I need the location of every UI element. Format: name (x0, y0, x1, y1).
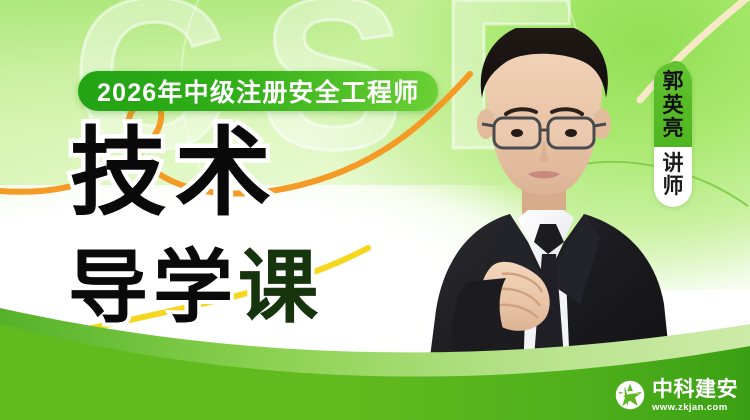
instructor-badge: 郭 英 亮 讲 师 (654, 63, 692, 207)
instructor-role: 讲 师 (654, 147, 692, 207)
title-sub: 导学课 (68, 248, 323, 328)
brand-name: 中科建安 (652, 379, 738, 400)
title-sub-plain: 导学 (68, 243, 238, 332)
brand-text: 中科建安 www.zkjan.com (652, 379, 738, 413)
brand-url: www.zkjan.com (652, 403, 738, 413)
course-subject-badge: 2026年中级注册安全工程师 (78, 71, 438, 111)
course-poster: CSE (0, 0, 750, 420)
instructor-role-char: 师 (663, 175, 684, 199)
course-subject-label: 2026年中级注册安全工程师 (97, 73, 419, 109)
brand-logo: 中科建安 www.zkjan.com (615, 379, 738, 413)
title-main: 技术 (70, 126, 280, 222)
instructor-name-char: 郭 (663, 70, 684, 94)
instructor-name-char: 亮 (663, 117, 684, 141)
instructor-role-char: 讲 (663, 152, 684, 176)
instructor-name: 郭 英 亮 (654, 63, 692, 147)
title-sub-accent: 课 (238, 243, 323, 332)
instructor-name-char: 英 (663, 94, 684, 118)
star-circle-logo-icon (615, 380, 645, 410)
